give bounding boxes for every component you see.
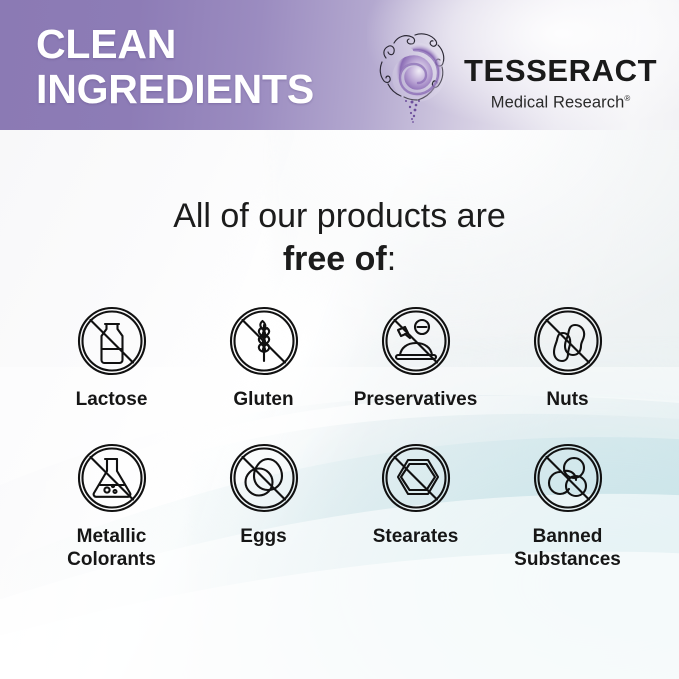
free-of-item-banned-substances: Banned Substances — [492, 440, 644, 571]
free-of-item-metallic-colorants: Metallic Colorants — [36, 440, 188, 571]
free-of-label: Metallic Colorants — [67, 525, 156, 571]
free-of-item-gluten: Gluten — [188, 303, 340, 411]
free-of-label: Gluten — [233, 388, 293, 411]
no-eggs-icon — [226, 440, 302, 516]
page-title: All of our products are free of: — [0, 195, 679, 281]
banner-headline: CLEAN INGREDIENTS — [36, 22, 314, 112]
banner-headline-line1: CLEAN — [36, 22, 314, 67]
no-lactose-bottle-icon — [74, 303, 150, 379]
page-title-line1: All of our products are — [0, 195, 679, 237]
free-of-label: Eggs — [240, 525, 286, 548]
free-of-icon-grid: Lactose — [0, 303, 679, 571]
brand-tagline-text: Medical Research — [491, 93, 625, 111]
page-title-emphasis: free of — [283, 240, 387, 278]
registered-trademark-icon: ® — [624, 94, 630, 103]
header-banner: CLEAN INGREDIENTS — [0, 0, 679, 130]
no-preservatives-food-icon — [378, 303, 454, 379]
free-of-item-preservatives: Preservatives — [340, 303, 492, 411]
no-banned-substances-pills-icon — [530, 440, 606, 516]
no-stearates-hexagon-icon — [378, 440, 454, 516]
free-of-label: Preservatives — [354, 388, 478, 411]
free-of-label: Stearates — [373, 525, 459, 548]
free-of-item-stearates: Stearates — [340, 440, 492, 548]
page-title-line2: free of: — [0, 237, 679, 281]
no-gluten-wheat-icon — [226, 303, 302, 379]
page-title-colon: : — [387, 240, 396, 278]
free-of-item-lactose: Lactose — [36, 303, 188, 411]
brand-tagline: Medical Research® — [491, 89, 631, 113]
free-of-label: Nuts — [546, 388, 588, 411]
free-of-item-eggs: Eggs — [188, 440, 340, 548]
clean-ingredients-poster: CLEAN INGREDIENTS — [0, 0, 679, 679]
banner-headline-line2: INGREDIENTS — [36, 67, 314, 112]
spiral-shape — [396, 46, 442, 98]
no-nuts-peanut-icon — [530, 303, 606, 379]
free-of-item-nuts: Nuts — [492, 303, 644, 411]
brand-name: TESSERACT — [464, 54, 657, 88]
free-of-label: Lactose — [76, 388, 148, 411]
free-of-row-2: Metallic Colorants Eggs — [0, 440, 679, 571]
spiral-tail-dots — [405, 100, 420, 123]
no-metallic-colorants-flask-icon — [74, 440, 150, 516]
tesseract-spiral-logo-icon — [368, 24, 460, 128]
free-of-label: Banned Substances — [514, 525, 621, 571]
free-of-row-1: Lactose — [0, 303, 679, 411]
brand-wordmark: TESSERACT Medical Research® — [464, 40, 657, 113]
brand-logo: TESSERACT Medical Research® — [368, 24, 657, 128]
